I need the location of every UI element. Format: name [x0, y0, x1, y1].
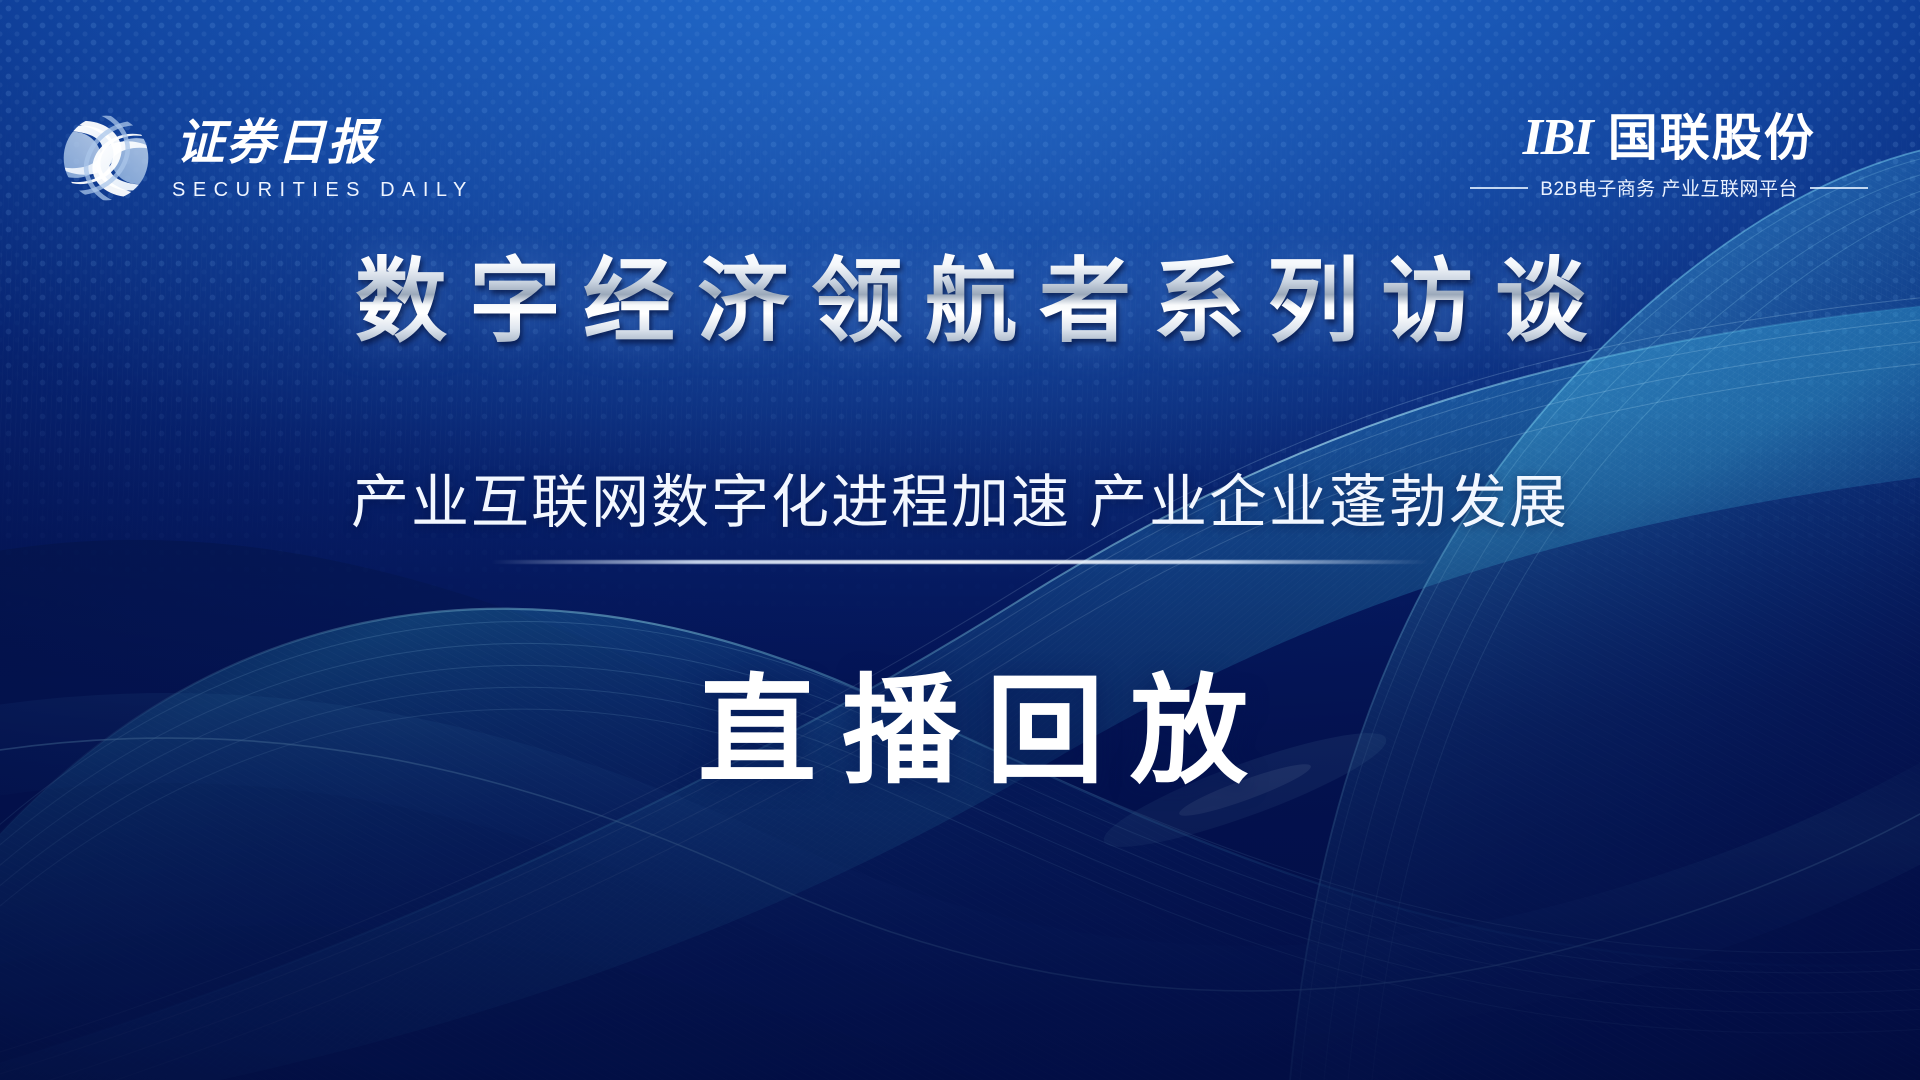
- subtitle-divider: [490, 560, 1430, 564]
- tagline-rule-left: [1470, 187, 1528, 189]
- guolian-chinese-name: 国联股份: [1608, 113, 1816, 163]
- guolian-logo-row: IBI 国联股份: [1523, 112, 1816, 164]
- securities-daily-wordmark: 证券日报 SECURITIES DAILY: [168, 114, 474, 202]
- guolian-logo: IBI 国联股份 B2B电子商务 产业互联网平台: [1470, 112, 1868, 201]
- tagline-text: B2B电子商务 产业互联网平台: [1540, 174, 1798, 201]
- tagline-rule-right: [1810, 187, 1868, 189]
- poster-canvas: 证券日报 SECURITIES DAILY IBI 国联股份 B2B电子商务 产…: [0, 0, 1920, 1080]
- episode-subtitle: 产业互联网数字化进程加速 产业企业蓬勃发展: [0, 455, 1920, 539]
- live-replay-headline: 直播回放: [0, 635, 1920, 806]
- securities-daily-logo: 证券日报 SECURITIES DAILY: [60, 112, 474, 204]
- svg-text:证券日报: 证券日报: [176, 116, 382, 170]
- securities-daily-globe-icon: [60, 112, 152, 204]
- ibi-mark-icon: IBI: [1523, 112, 1594, 164]
- securities-daily-chinese-name: 证券日报: [168, 114, 408, 172]
- guolian-tagline: B2B电子商务 产业互联网平台: [1470, 174, 1868, 201]
- series-title: 数字经济领航者系列访谈: [0, 250, 1920, 356]
- securities-daily-english-name: SECURITIES DAILY: [168, 179, 474, 202]
